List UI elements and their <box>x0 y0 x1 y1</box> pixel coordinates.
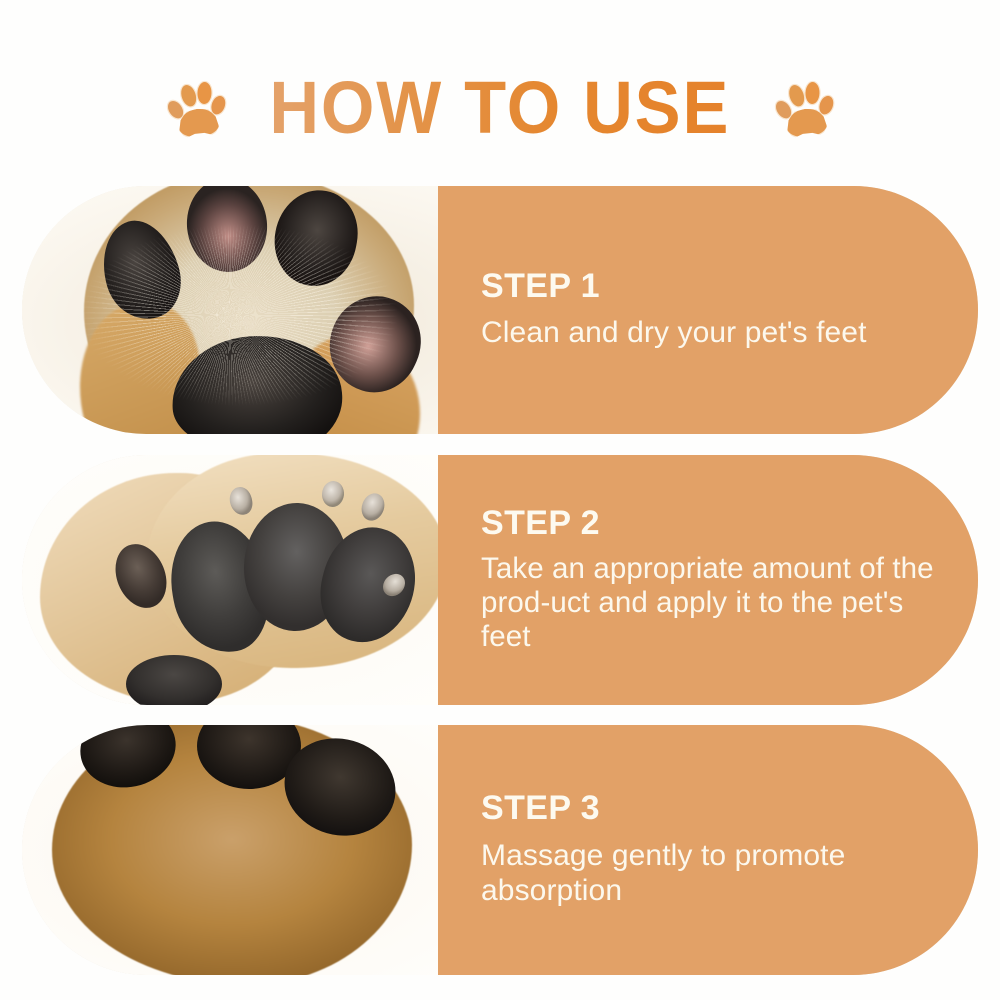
step-description: Massage gently to promote absorption <box>481 839 938 909</box>
step-text-panel: STEP 3 Massage gently to promote absorpt… <box>438 725 978 975</box>
infographic-page: HOW TO USE STEP 1 Clean and dry your pet… <box>0 0 1000 1000</box>
page-title: HOW TO USE <box>270 71 731 145</box>
step-title: STEP 2 <box>481 506 938 542</box>
step-image <box>22 725 438 975</box>
step-text-panel: STEP 2 Take an appropriate amount of the… <box>438 455 978 705</box>
step-description: Take an appropriate amount of the prod-u… <box>481 552 938 655</box>
paw-print-icon <box>773 75 835 141</box>
paw-print-icon <box>165 75 227 141</box>
step-description: Clean and dry your pet's feet <box>481 316 938 351</box>
step-title: STEP 1 <box>481 269 938 305</box>
step-card: STEP 2 Take an appropriate amount of the… <box>22 455 978 705</box>
step-card: STEP 3 Massage gently to promote absorpt… <box>22 725 978 975</box>
step-text-panel: STEP 1 Clean and dry your pet's feet <box>438 186 978 434</box>
step-card: STEP 1 Clean and dry your pet's feet <box>22 186 978 434</box>
step-image <box>22 455 438 705</box>
step-title: STEP 3 <box>481 791 938 827</box>
page-header: HOW TO USE <box>0 62 1000 154</box>
step-image <box>22 186 438 434</box>
